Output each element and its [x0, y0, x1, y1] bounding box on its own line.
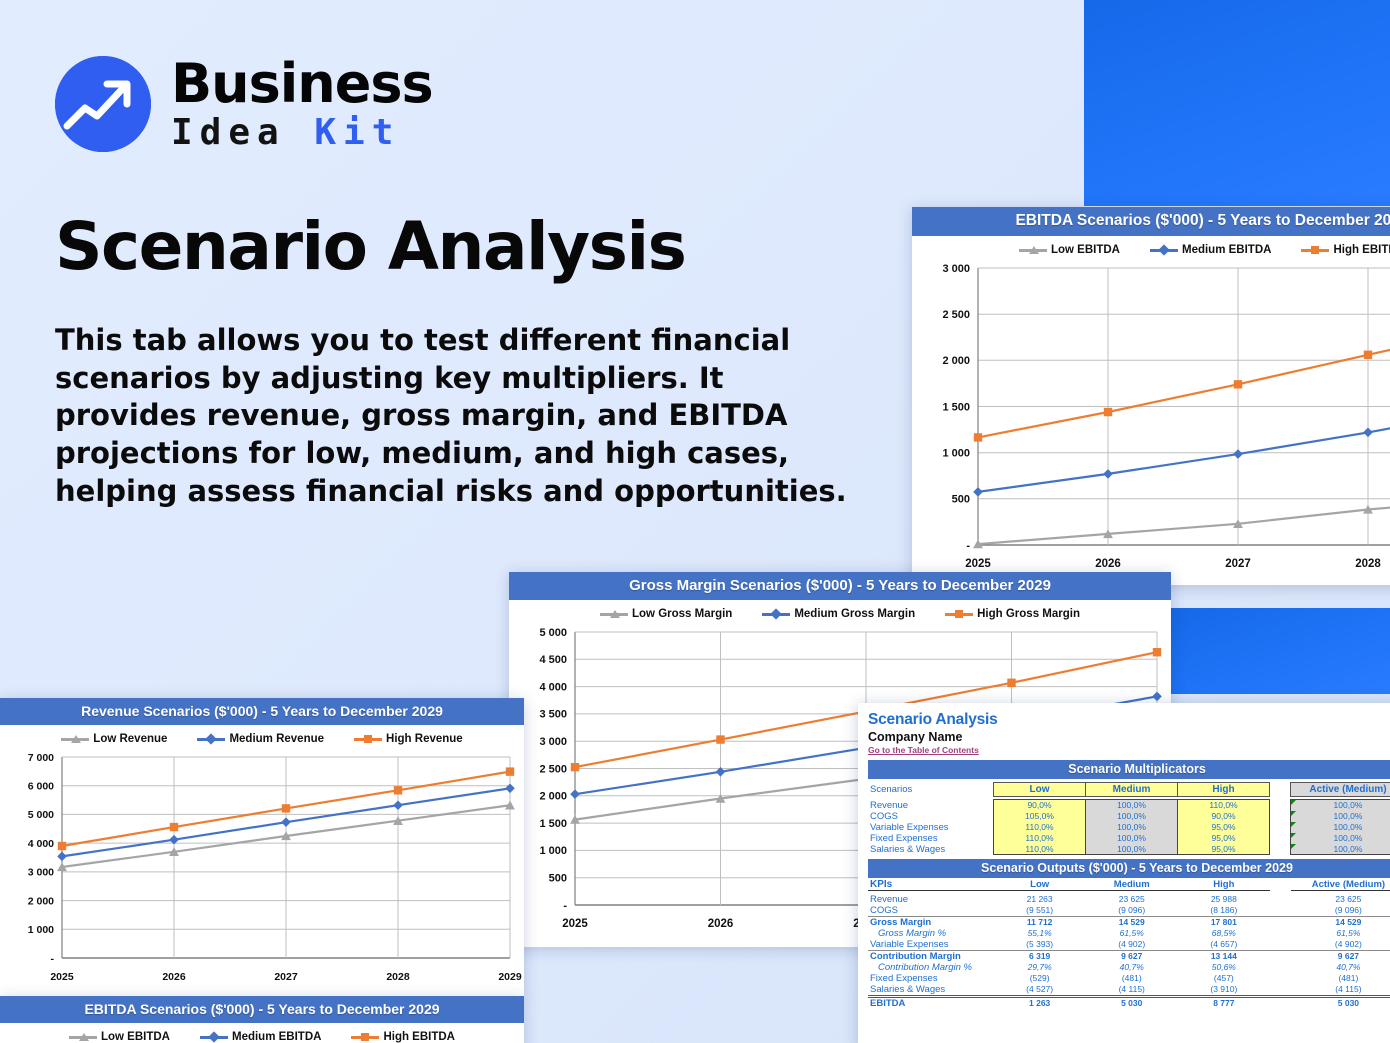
legend-item[interactable]: High Revenue [354, 733, 463, 745]
cell-medium[interactable]: 100,0% [1086, 833, 1178, 844]
cell-high[interactable]: (4 657) [1178, 939, 1270, 951]
legend-marker-diamond-icon [197, 734, 225, 744]
spacer [1270, 939, 1291, 951]
legend-item[interactable]: Low Revenue [61, 733, 167, 745]
trending-up-arrow-icon [55, 56, 151, 152]
spacer [1270, 811, 1291, 822]
chart-card-revenue[interactable]: Revenue Scenarios ($'000) - 5 Years to D… [0, 698, 524, 996]
spacer [1270, 916, 1291, 928]
cell-medium[interactable]: 14 529 [1086, 916, 1178, 928]
cell-medium[interactable]: 23 625 [1086, 894, 1178, 905]
spacer [1270, 962, 1291, 973]
table-row: ScenariosLowMediumHighActive (Medium) [868, 783, 1390, 797]
svg-text:2028: 2028 [1355, 558, 1381, 570]
svg-text:5 000: 5 000 [539, 627, 567, 639]
cell-medium[interactable]: (9 096) [1086, 905, 1178, 917]
table-row[interactable]: Revenue21 26323 62525 98823 625 [868, 894, 1390, 905]
legend-item[interactable]: Medium EBITDA [200, 1031, 321, 1043]
chart-legend[interactable]: Low Gross MarginMedium Gross MarginHigh … [509, 600, 1171, 622]
company-name: Company Name [868, 730, 1390, 744]
row-label: Salaries & Wages [868, 844, 993, 855]
cell-active[interactable]: 5 030 [1291, 996, 1390, 1009]
legend-label: Low EBITDA [1051, 244, 1120, 256]
svg-text:5 000: 5 000 [28, 809, 54, 821]
cell-high[interactable]: 95,0% [1178, 833, 1270, 844]
cell-medium[interactable]: 9 627 [1086, 950, 1178, 962]
legend-label: Low Gross Margin [632, 608, 732, 620]
brand-subtitle: Idea Kit [171, 115, 433, 151]
spacer [1270, 833, 1291, 844]
svg-text:2 500: 2 500 [539, 763, 567, 775]
svg-text:3 500: 3 500 [539, 709, 567, 721]
chart-legend[interactable]: Low RevenueMedium RevenueHigh Revenue [0, 725, 524, 747]
cell-high[interactable]: (3 910) [1178, 984, 1270, 997]
table-row[interactable]: Gross Margin %55,1%61,5%68,5%61,5% [868, 928, 1390, 939]
legend-marker-triangle-icon [1019, 245, 1047, 255]
svg-text:-: - [966, 540, 970, 552]
legend-item[interactable]: Medium EBITDA [1150, 244, 1271, 256]
svg-text:2025: 2025 [50, 971, 74, 983]
legend-label: Low Revenue [93, 733, 167, 745]
svg-text:2028: 2028 [386, 971, 410, 983]
brand-subtitle-idea: Idea [171, 112, 314, 153]
cell-active[interactable]: 100,0% [1290, 844, 1390, 855]
cell-active[interactable]: 100,0% [1290, 811, 1390, 822]
scenario-panel-heading: Scenario Analysis [868, 711, 1390, 729]
chart-title: EBITDA Scenarios ($'000) - 5 Years to De… [912, 207, 1390, 236]
svg-text:500: 500 [952, 494, 970, 506]
cell-active[interactable]: 9 627 [1291, 950, 1390, 962]
cell-high[interactable]: 95,0% [1178, 844, 1270, 855]
svg-text:2025: 2025 [562, 918, 588, 930]
svg-text:1 000: 1 000 [942, 447, 970, 459]
svg-text:-: - [563, 900, 567, 912]
svg-text:3 000: 3 000 [539, 736, 567, 748]
scenario-multiplicators-band: Scenario Multiplicators [868, 760, 1390, 779]
table-row[interactable]: COGS(9 551)(9 096)(8 186)(9 096) [868, 905, 1390, 917]
page-description: This tab allows you to test different fi… [55, 322, 855, 510]
spacer [1270, 996, 1291, 1009]
cell-high[interactable]: 13 144 [1178, 950, 1270, 962]
cell-medium[interactable]: 61,5% [1086, 928, 1178, 939]
svg-text:2 500: 2 500 [942, 309, 970, 321]
cell-active[interactable]: 40,7% [1291, 962, 1390, 973]
legend-label: Medium EBITDA [1182, 244, 1271, 256]
chart-legend[interactable]: Low EBITDAMedium EBITDAHigh EBITDA [912, 236, 1390, 258]
table-row: KPIsLowMediumHighActive (Medium) [868, 879, 1390, 891]
column-header-high[interactable]: High [1178, 783, 1270, 797]
legend-marker-triangle-icon [61, 734, 89, 744]
spacer [1270, 800, 1291, 811]
svg-text:2027: 2027 [274, 971, 298, 983]
svg-text:6 000: 6 000 [28, 781, 54, 793]
cell-active[interactable]: (481) [1291, 973, 1390, 984]
cell-active[interactable]: 100,0% [1290, 833, 1390, 844]
cell-active[interactable]: 100,0% [1290, 800, 1390, 811]
cell-medium[interactable]: (481) [1086, 973, 1178, 984]
svg-text:1 500: 1 500 [942, 401, 970, 413]
column-header-active[interactable]: Active (Medium) [1291, 879, 1390, 891]
svg-text:2027: 2027 [1225, 558, 1251, 570]
svg-text:4 000: 4 000 [539, 681, 567, 693]
table-row[interactable]: Salaries & Wages110,0%100,0%95,0%100,0% [868, 844, 1390, 855]
cell-high[interactable]: (457) [1178, 973, 1270, 984]
table-row[interactable]: Contribution Margin %29,7%40,7%50,6%40,7… [868, 962, 1390, 973]
cell-low[interactable]: (9 551) [994, 905, 1086, 917]
row-label: Gross Margin [868, 916, 994, 928]
kpis-header: KPIs [868, 879, 994, 891]
cell-low[interactable]: 90,0% [993, 800, 1085, 811]
cell-low[interactable]: 110,0% [993, 844, 1085, 855]
column-header-low[interactable]: Low [994, 879, 1086, 891]
cell-low[interactable]: 21 263 [994, 894, 1086, 905]
svg-text:500: 500 [549, 873, 567, 885]
column-header-medium[interactable]: Medium [1086, 879, 1178, 891]
svg-text:1 500: 1 500 [539, 818, 567, 830]
cell-active[interactable]: 14 529 [1291, 916, 1390, 928]
column-header-medium[interactable]: Medium [1086, 783, 1178, 797]
legend-label: Medium Gross Margin [794, 608, 915, 620]
cell-high[interactable]: 110,0% [1178, 800, 1270, 811]
cell-low[interactable]: 110,0% [993, 822, 1085, 833]
legend-item[interactable]: Low Gross Margin [600, 608, 732, 620]
table-row[interactable]: Salaries & Wages(4 527)(4 115)(3 910)(4 … [868, 984, 1390, 997]
cell-high[interactable]: 17 801 [1178, 916, 1270, 928]
cell-low[interactable]: 105,0% [993, 811, 1085, 822]
svg-text:2029: 2029 [498, 971, 522, 983]
row-label: Fixed Expenses [868, 973, 994, 984]
spacer [1270, 984, 1291, 997]
spacer [1270, 783, 1291, 797]
row-label: Contribution Margin [868, 950, 994, 962]
chart-card-ebitda-bottom[interactable]: EBITDA Scenarios ($'000) - 5 Years to De… [0, 996, 524, 1043]
svg-text:2026: 2026 [1095, 558, 1121, 570]
cell-high[interactable]: 25 988 [1178, 894, 1270, 905]
page-title: Scenario Analysis [55, 208, 685, 285]
legend-label: Medium EBITDA [232, 1031, 321, 1043]
svg-text:2 000: 2 000 [942, 355, 970, 367]
spacer [1270, 973, 1291, 984]
legend-label: High Gross Margin [977, 608, 1080, 620]
cell-high[interactable]: 8 777 [1178, 996, 1270, 1009]
svg-text:7 000: 7 000 [28, 752, 54, 764]
table-row[interactable]: COGS105,0%100,0%90,0%100,0% [868, 811, 1390, 822]
column-header-low[interactable]: Low [993, 783, 1085, 797]
legend-marker-triangle-icon [600, 609, 628, 619]
chart-title: EBITDA Scenarios ($'000) - 5 Years to De… [0, 996, 524, 1023]
svg-text:2026: 2026 [162, 971, 186, 983]
legend-item[interactable]: Medium Gross Margin [762, 608, 915, 620]
column-header-active[interactable]: Active (Medium) [1290, 783, 1390, 797]
row-label: EBITDA [868, 996, 994, 1009]
brand-name: Business [171, 57, 433, 111]
legend-label: High EBITDA [383, 1031, 455, 1043]
svg-text:4 500: 4 500 [539, 654, 567, 666]
cell-high[interactable]: 95,0% [1178, 822, 1270, 833]
table-row[interactable]: Contribution Margin6 3199 62713 1449 627 [868, 950, 1390, 962]
cell-active[interactable]: 100,0% [1290, 822, 1390, 833]
cell-active[interactable]: 23 625 [1291, 894, 1390, 905]
cell-low[interactable]: 1 263 [994, 996, 1086, 1009]
legend-label: Low EBITDA [101, 1031, 170, 1043]
decorative-blue-block-middle [1170, 608, 1390, 694]
cell-high[interactable]: (8 186) [1178, 905, 1270, 917]
legend-label: High Revenue [386, 733, 463, 745]
table-row[interactable]: Gross Margin11 71214 52917 80114 529 [868, 916, 1390, 928]
cell-low[interactable]: (529) [994, 973, 1086, 984]
cell-medium[interactable]: (4 902) [1086, 939, 1178, 951]
cell-low[interactable]: 55,1% [994, 928, 1086, 939]
table-of-contents-link[interactable]: Go to the Table of Contents [868, 745, 979, 755]
svg-text:1 000: 1 000 [28, 924, 54, 936]
legend-item[interactable]: Low EBITDA [69, 1031, 170, 1043]
legend-marker-square-icon [1301, 245, 1329, 255]
scenario-multiplicators-table[interactable]: ScenariosLowMediumHighActive (Medium)Rev… [868, 782, 1390, 855]
legend-marker-diamond-icon [1150, 245, 1178, 255]
row-label: COGS [868, 905, 994, 917]
svg-text:-: - [51, 953, 55, 965]
table-row[interactable]: EBITDA1 2635 0308 7775 030 [868, 996, 1390, 1009]
legend-item[interactable]: Low EBITDA [1019, 244, 1120, 256]
scenario-outputs-band: Scenario Outputs ($'000) - 5 Years to De… [868, 859, 1390, 878]
row-label: Salaries & Wages [868, 984, 994, 997]
svg-text:2 000: 2 000 [28, 895, 54, 907]
spacer [1270, 844, 1291, 855]
row-label: Fixed Expenses [868, 833, 993, 844]
legend-item[interactable]: High EBITDA [1301, 244, 1390, 256]
row-label: COGS [868, 811, 993, 822]
scenario-analysis-panel[interactable]: Scenario Analysis Company Name Go to the… [858, 703, 1390, 1043]
legend-marker-diamond-icon [762, 609, 790, 619]
chart-card-ebitda-top[interactable]: EBITDA Scenarios ($'000) - 5 Years to De… [912, 207, 1390, 585]
legend-marker-square-icon [945, 609, 973, 619]
cell-active[interactable]: (4 115) [1291, 984, 1390, 997]
legend-label: High EBITDA [1333, 244, 1390, 256]
cell-medium[interactable]: 100,0% [1086, 822, 1178, 833]
cell-high[interactable]: 68,5% [1178, 928, 1270, 939]
chart-plot-area: -1 0002 0003 0004 0005 0006 0007 0002025… [0, 747, 524, 996]
svg-text:2026: 2026 [708, 918, 734, 930]
cell-low[interactable]: (4 527) [994, 984, 1086, 997]
spacer [1270, 822, 1291, 833]
cell-low[interactable]: 110,0% [993, 833, 1085, 844]
chart-title: Gross Margin Scenarios ($'000) - 5 Years… [509, 572, 1171, 600]
spacer [1270, 894, 1291, 905]
cell-medium[interactable]: 100,0% [1086, 844, 1178, 855]
decorative-blue-block-top [1084, 0, 1390, 206]
legend-marker-diamond-icon [200, 1032, 228, 1042]
legend-item[interactable]: Medium Revenue [197, 733, 324, 745]
cell-medium[interactable]: 100,0% [1086, 800, 1178, 811]
cell-active[interactable]: (9 096) [1291, 905, 1390, 917]
legend-marker-triangle-icon [69, 1032, 97, 1042]
spacer [1270, 950, 1291, 962]
cell-low[interactable]: 29,7% [994, 962, 1086, 973]
cell-low[interactable]: 6 319 [994, 950, 1086, 962]
chart-legend[interactable]: Low EBITDAMedium EBITDAHigh EBITDA [0, 1023, 524, 1043]
scenario-outputs-table[interactable]: KPIsLowMediumHighActive (Medium)Revenue2… [868, 879, 1390, 1009]
cell-active[interactable]: (4 902) [1291, 939, 1390, 951]
row-label: Variable Expenses [868, 822, 993, 833]
cell-active[interactable]: 61,5% [1291, 928, 1390, 939]
legend-marker-square-icon [351, 1032, 379, 1042]
table-row[interactable]: Fixed Expenses(529)(481)(457)(481) [868, 973, 1390, 984]
column-header-high[interactable]: High [1178, 879, 1270, 891]
spacer [1270, 928, 1291, 939]
chart-plot-area: -5001 0001 5002 0002 5003 00020252026202… [912, 258, 1390, 585]
row-label: Contribution Margin % [868, 962, 994, 973]
svg-text:3 000: 3 000 [942, 263, 970, 275]
table-row[interactable]: Variable Expenses110,0%100,0%95,0%100,0% [868, 822, 1390, 833]
brand-logo-lockup: Business Idea Kit [55, 56, 433, 152]
table-row[interactable]: Variable Expenses(5 393)(4 902)(4 657)(4… [868, 939, 1390, 951]
cell-low[interactable]: (5 393) [994, 939, 1086, 951]
legend-marker-square-icon [354, 734, 382, 744]
cell-medium[interactable]: 100,0% [1086, 811, 1178, 822]
chart-title: Revenue Scenarios ($'000) - 5 Years to D… [0, 698, 524, 725]
spacer [1270, 879, 1291, 891]
row-label: Revenue [868, 800, 993, 811]
cell-medium[interactable]: 5 030 [1086, 996, 1178, 1009]
cell-high[interactable]: 90,0% [1178, 811, 1270, 822]
legend-label: Medium Revenue [229, 733, 324, 745]
cell-medium[interactable]: (4 115) [1086, 984, 1178, 997]
svg-text:4 000: 4 000 [28, 838, 54, 850]
svg-text:1 000: 1 000 [539, 845, 567, 857]
table-row[interactable]: Revenue90,0%100,0%110,0%100,0% [868, 800, 1390, 811]
legend-item[interactable]: High Gross Margin [945, 608, 1080, 620]
table-row[interactable]: Fixed Expenses110,0%100,0%95,0%100,0% [868, 833, 1390, 844]
legend-item[interactable]: High EBITDA [351, 1031, 455, 1043]
svg-text:2 000: 2 000 [539, 791, 567, 803]
cell-high[interactable]: 50,6% [1178, 962, 1270, 973]
row-label: Variable Expenses [868, 939, 994, 951]
row-label: Gross Margin % [868, 928, 994, 939]
cell-low[interactable]: 11 712 [994, 916, 1086, 928]
svg-text:3 000: 3 000 [28, 867, 54, 879]
spacer [1270, 905, 1291, 917]
scenarios-row-label: Scenarios [868, 783, 993, 797]
brand-subtitle-kit: Kit [314, 112, 400, 153]
row-label: Revenue [868, 894, 994, 905]
svg-text:2025: 2025 [965, 558, 991, 570]
cell-medium[interactable]: 40,7% [1086, 962, 1178, 973]
